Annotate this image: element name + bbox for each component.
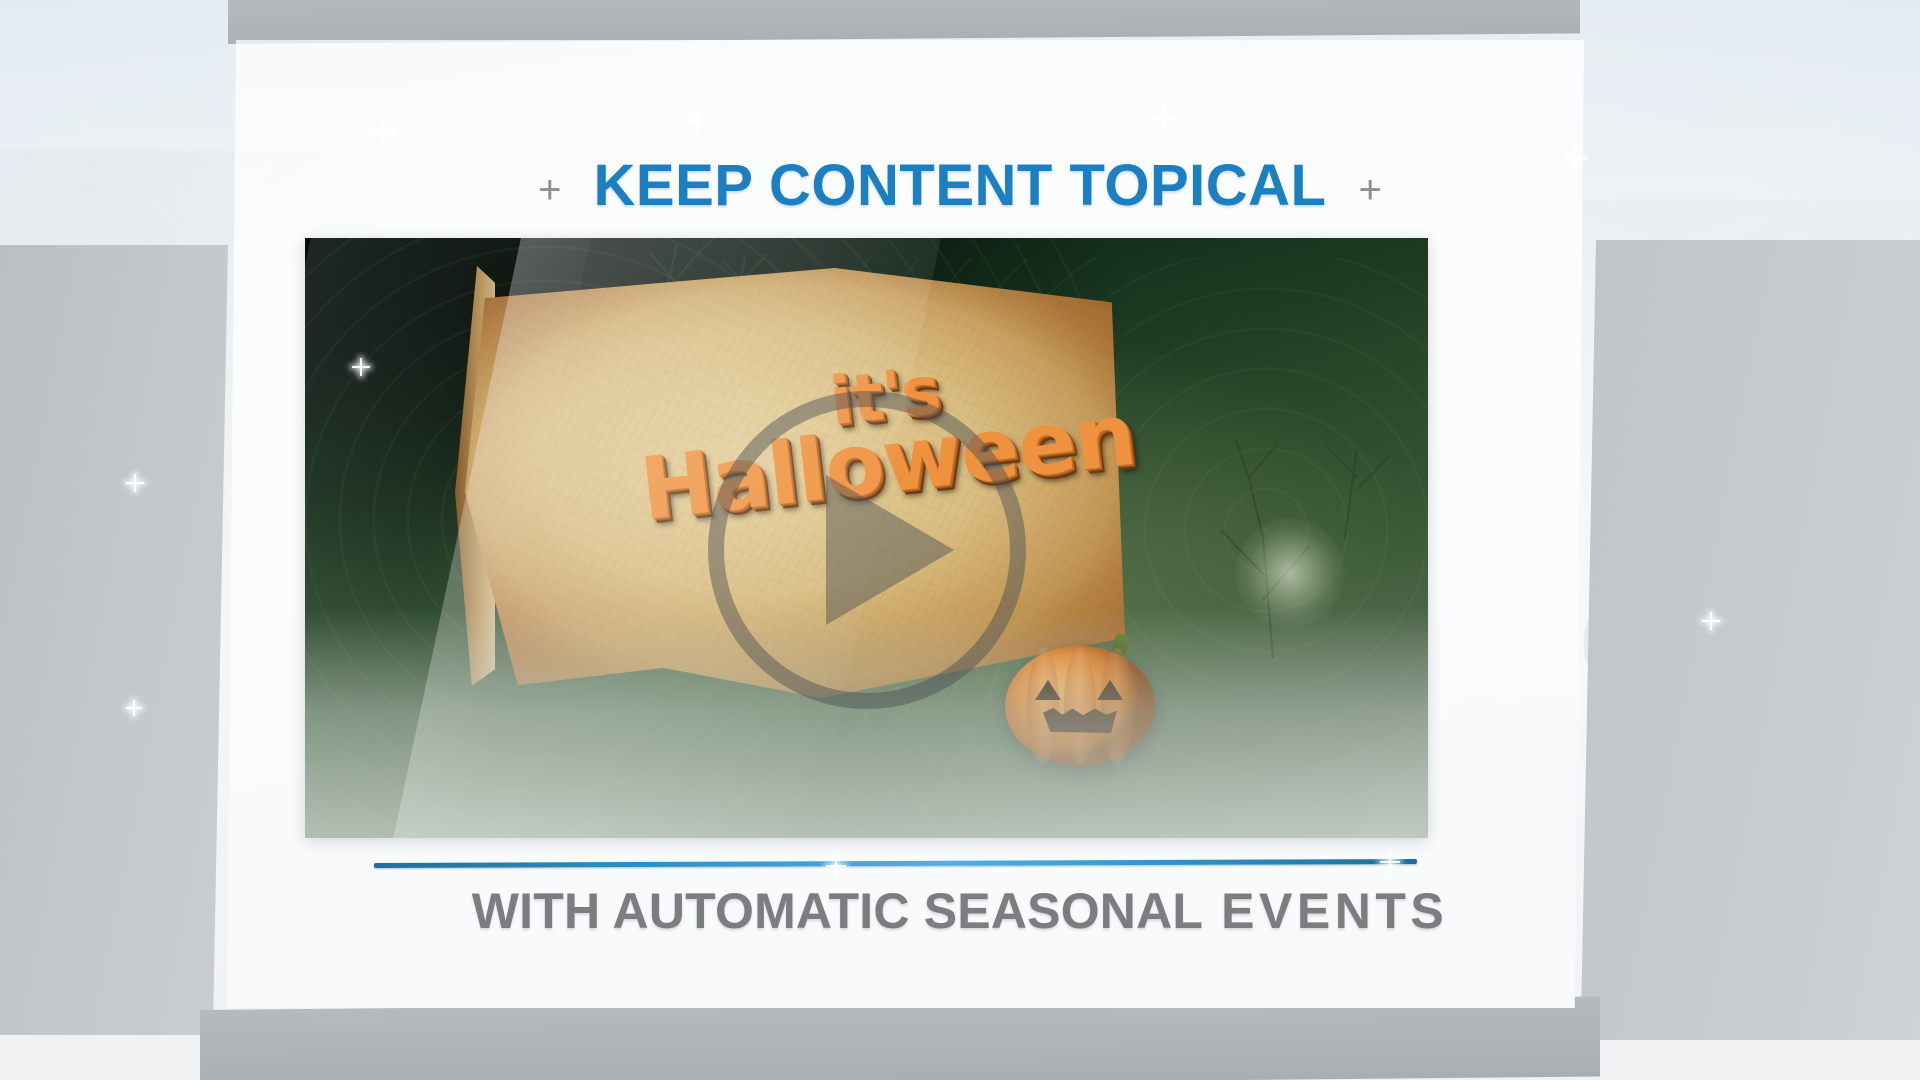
plus-right-icon: + bbox=[1358, 170, 1381, 210]
headline-row: + KEEP CONTENT TOPICAL + bbox=[0, 117, 1920, 256]
decor-bar-bottom bbox=[200, 997, 1600, 1080]
video-thumbnail[interactable]: it's Halloween bbox=[305, 238, 1428, 838]
slide-stage: a n k + KEEP CONTENT TOPICAL + bbox=[0, 0, 1920, 1080]
subtitle-accent: EVENTS bbox=[1221, 882, 1448, 940]
page-title: KEEP CONTENT TOPICAL bbox=[594, 156, 1327, 217]
subtitle-row: WITH AUTOMATIC SEASONAL EVENTS bbox=[0, 882, 1920, 940]
play-triangle-icon bbox=[826, 475, 954, 625]
play-button[interactable] bbox=[708, 391, 1026, 709]
subtitle-main: WITH AUTOMATIC SEASONAL bbox=[472, 882, 1203, 940]
plus-left-icon: + bbox=[538, 170, 561, 210]
